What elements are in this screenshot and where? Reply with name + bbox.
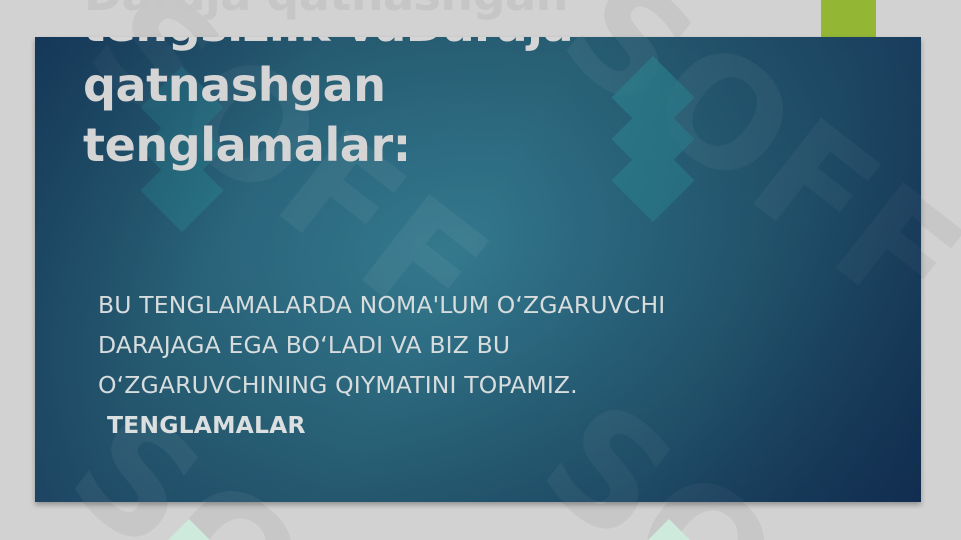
body-line: DARAJAGA EGA BO‘LADI VA BIZ BU (98, 325, 838, 365)
slide-title-line: tengsizlik vaDaraja (83, 37, 683, 55)
body-line: O‘ZGARUVCHINING QIYMATINI TOPAMIZ. (98, 365, 838, 405)
mint-triangle-left (168, 519, 210, 540)
slide-viewer: SOFF SOFF SOFF SOFF Daraja qatnashgan SO… (0, 0, 961, 540)
body-line: BU TENGLAMALARDA NOMA'LUM O‘ZGARUVCHI (98, 285, 838, 325)
presentation-slide[interactable]: SOFF SOFF SOFF SOFF tengsizlik vaDaraja … (35, 37, 921, 502)
slide-body-text: BU TENGLAMALARDA NOMA'LUM O‘ZGARUVCHI DA… (98, 285, 838, 445)
body-line-emphasis: TENGLAMALAR (98, 405, 838, 445)
slide-title-line: tenglamalar: (83, 115, 683, 175)
slide-title-line: qatnashgan (83, 55, 683, 115)
mint-triangle-right (648, 519, 690, 540)
cut-off-heading: Daraja qatnashgan (84, 0, 568, 21)
slide-title: tengsizlik vaDaraja qatnashgan tenglamal… (83, 37, 683, 175)
